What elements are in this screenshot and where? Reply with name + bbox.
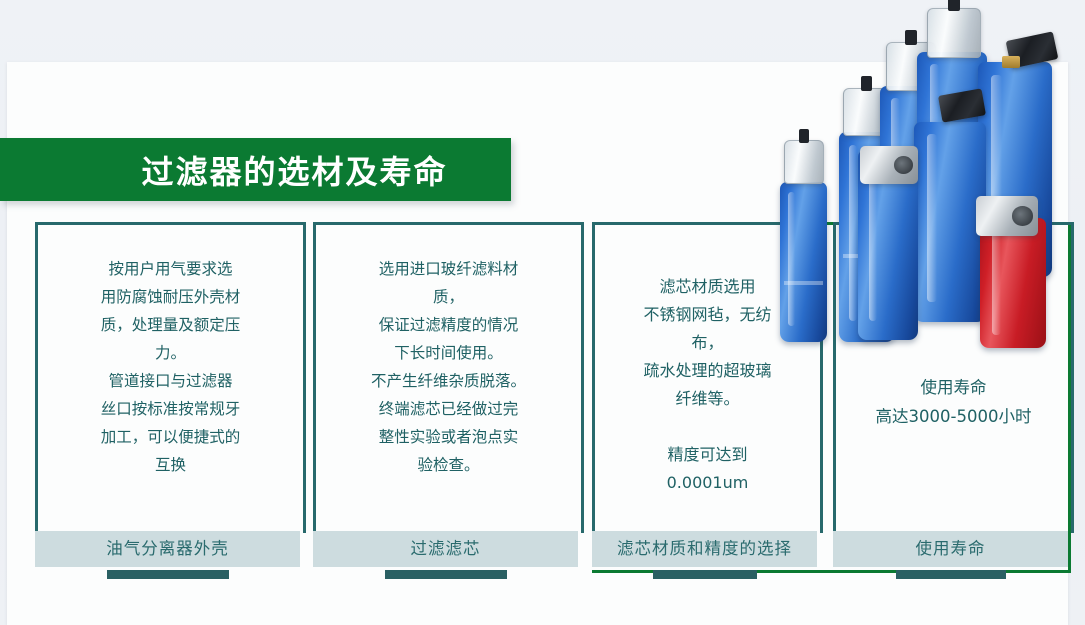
info-card-4-label: 使用寿命 [833,531,1068,567]
info-card-4-underline [896,570,1006,579]
info-card-3-body: 滤芯材质选用 不锈钢网毡，无纺 布， 疏水处理的超玻璃 纤维等。 精度可达到 0… [595,225,820,533]
page-title: 过滤器的选材及寿命 [63,147,447,193]
info-card-4[interactable]: 使用寿命 高达3000-5000小时 [833,222,1074,533]
info-card-4-label-wrap: 使用寿命 [833,531,1068,579]
info-card-3-label-wrap: 滤芯材质和精度的选择 [592,531,817,579]
info-card-4-text: 使用寿命 高达3000-5000小时 [876,373,1032,431]
info-card-1-underline [107,570,229,579]
info-card-3[interactable]: 滤芯材质选用 不锈钢网毡，无纺 布， 疏水处理的超玻璃 纤维等。 精度可达到 0… [592,222,823,533]
info-card-3-text: 滤芯材质选用 不锈钢网毡，无纺 布， 疏水处理的超玻璃 纤维等。 精度可达到 0… [643,273,771,497]
info-card-2-text: 选用进口玻纤滤料材 质， 保证过滤精度的情况 下长时间使用。 不产生纤维杂质脱落… [371,255,526,479]
slide-stage: 过滤器的选材及寿命 按用户用气要求选 用防腐蚀耐压外壳材 质，处理量及额定压 力… [0,0,1085,625]
slide-title-banner: 过滤器的选材及寿命 [0,138,511,201]
info-card-2-label-wrap: 过滤滤芯 [313,531,578,579]
drain-valve-icon [927,8,981,58]
info-card-2-underline [385,570,507,579]
info-card-2-label: 过滤滤芯 [313,531,578,567]
info-card-1-label: 油气分离器外壳 [35,531,300,567]
info-card-1-text: 按用户用气要求选 用防腐蚀耐压外壳材 质，处理量及额定压 力。 管道接口与过滤器… [101,255,241,479]
info-card-1-body: 按用户用气要求选 用防腐蚀耐压外壳材 质，处理量及额定压 力。 管道接口与过滤器… [38,225,303,533]
info-card-2[interactable]: 选用进口玻纤滤料材 质， 保证过滤精度的情况 下长时间使用。 不产生纤维杂质脱落… [313,222,584,533]
info-card-2-body: 选用进口玻纤滤料材 质， 保证过滤精度的情况 下长时间使用。 不产生纤维杂质脱落… [316,225,581,533]
info-card-3-label: 滤芯材质和精度的选择 [592,531,817,567]
info-card-1[interactable]: 按用户用气要求选 用防腐蚀耐压外壳材 质，处理量及额定压 力。 管道接口与过滤器… [35,222,306,533]
info-card-3-underline [653,570,757,579]
info-card-4-body: 使用寿命 高达3000-5000小时 [836,225,1071,533]
info-card-1-label-wrap: 油气分离器外壳 [35,531,300,579]
